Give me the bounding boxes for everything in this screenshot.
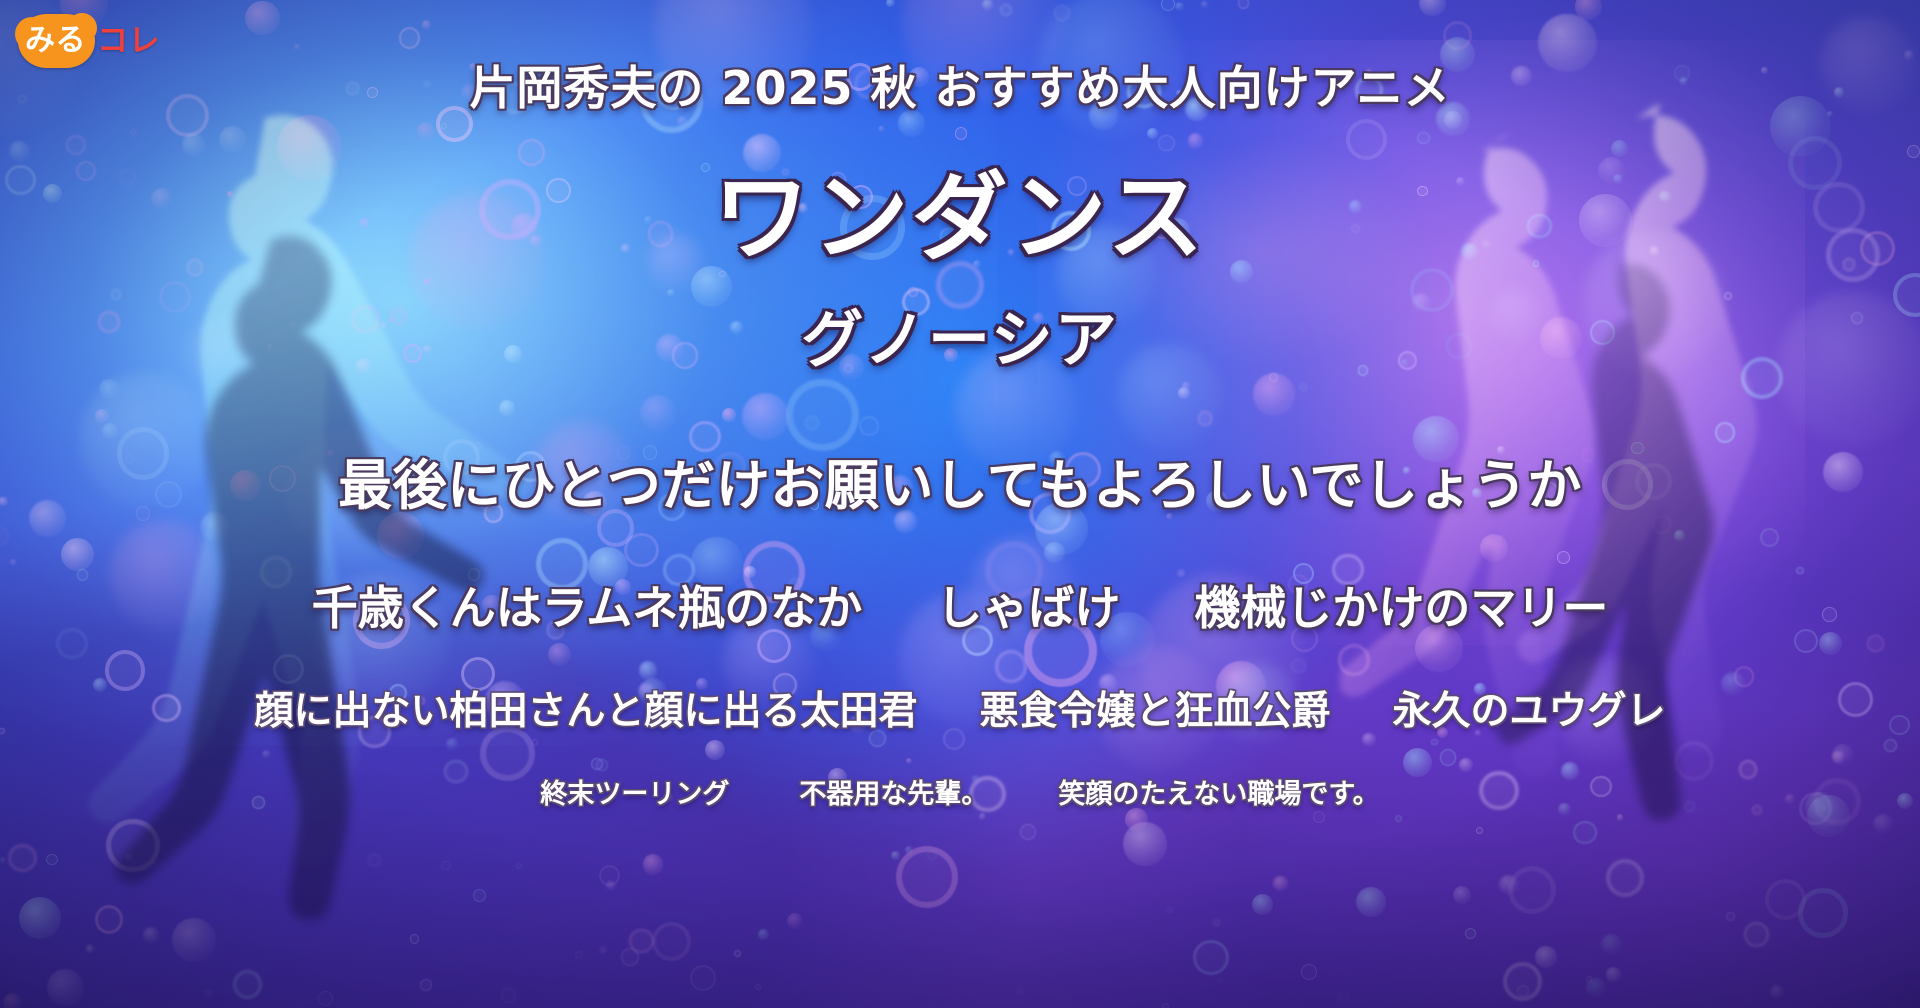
title-row-secondary: 千歳くんはラムネ瓶のなか しゃばけ 機械じかけのマリー [0, 572, 1920, 638]
anime-title: 千歳くんはラムネ瓶のなか [312, 572, 863, 638]
logo-accent-text: コレ [97, 26, 160, 57]
header-line: 片岡秀夫の 2025 秋 おすすめ大人向けアニメ [469, 52, 1450, 118]
anime-title: 永久のユウグレ [1393, 680, 1666, 736]
title-stack: 片岡秀夫の 2025 秋 おすすめ大人向けアニメ ワンダンス グノーシア 最後に… [0, 0, 1920, 1008]
logo-badge: みる [18, 14, 95, 68]
feature-title-primary: 最後にひとつだけお願いしてもよろしいでしょうか [338, 441, 1582, 520]
anime-title: しゃばけ [936, 572, 1120, 638]
title-row-tertiary: 顔に出ない柏田さんと顔に出る太田君 悪食令嬢と狂血公爵 永久のユウグレ [0, 680, 1920, 736]
logo-badge-text: みる [25, 26, 86, 56]
anime-title: 笑顔のたえない職場です。 [1058, 772, 1379, 811]
anime-title: 顔に出ない柏田さんと顔に出る太田君 [254, 680, 917, 736]
anime-title: 機械じかけのマリー [1194, 572, 1608, 638]
title-row-quaternary: 終末ツーリング 不器用な先輩。 笑顔のたえない職場です。 [0, 772, 1920, 811]
anime-title: 終末ツーリング [540, 772, 729, 811]
miru-kore-logo[interactable]: みる コレ [18, 14, 160, 68]
main-title: ワンダンス [713, 140, 1206, 279]
anime-title: 悪食令嬢と狂血公爵 [979, 680, 1330, 736]
thumbnail-card: みる コレ 片岡秀夫の 2025 秋 おすすめ大人向けアニメ ワンダンス グノー… [0, 0, 1920, 1008]
sub-title: グノーシア [801, 289, 1119, 379]
anime-title: 不器用な先輩。 [799, 772, 988, 811]
